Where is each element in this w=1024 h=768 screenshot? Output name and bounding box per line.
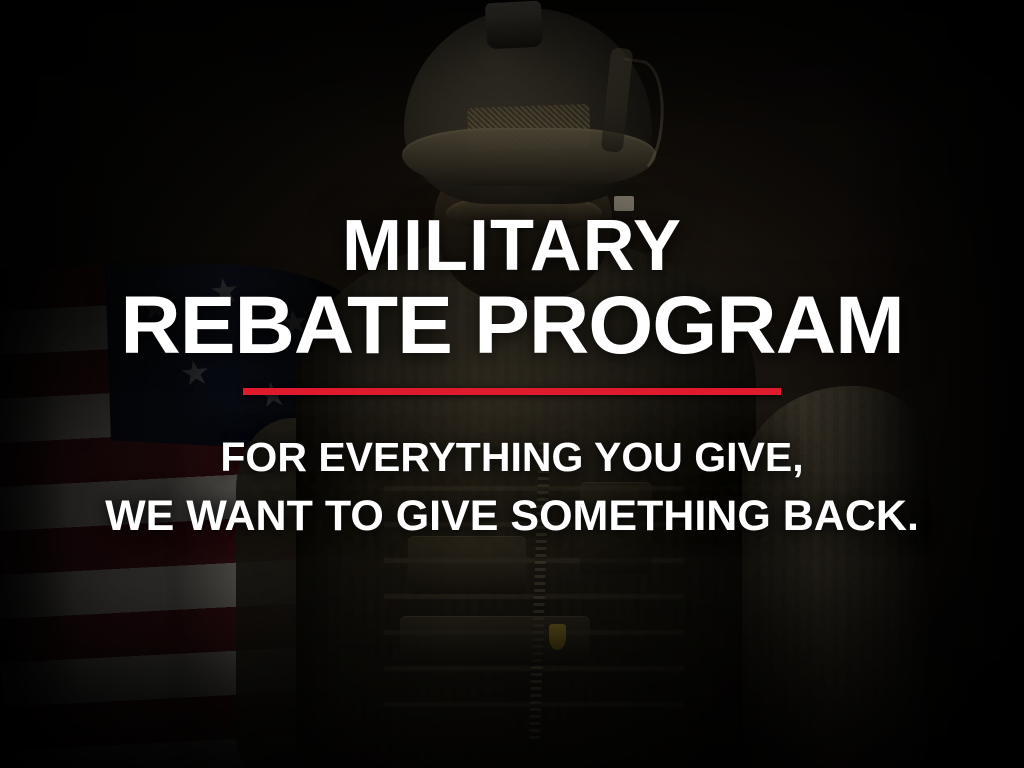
red-divider-rule	[243, 388, 781, 395]
headline-line-1: MILITARY	[342, 212, 682, 281]
text-overlay: MILITARY REBATE PROGRAM FOR EVERYTHING Y…	[0, 0, 1024, 768]
headline-line-2: REBATE PROGRAM	[120, 287, 903, 366]
subhead-line-1: FOR EVERYTHING YOU GIVE,	[220, 433, 803, 481]
military-rebate-poster: MILITARY REBATE PROGRAM FOR EVERYTHING Y…	[0, 0, 1024, 768]
subhead-line-2: WE WANT TO GIVE SOMETHING BACK.	[105, 491, 919, 542]
